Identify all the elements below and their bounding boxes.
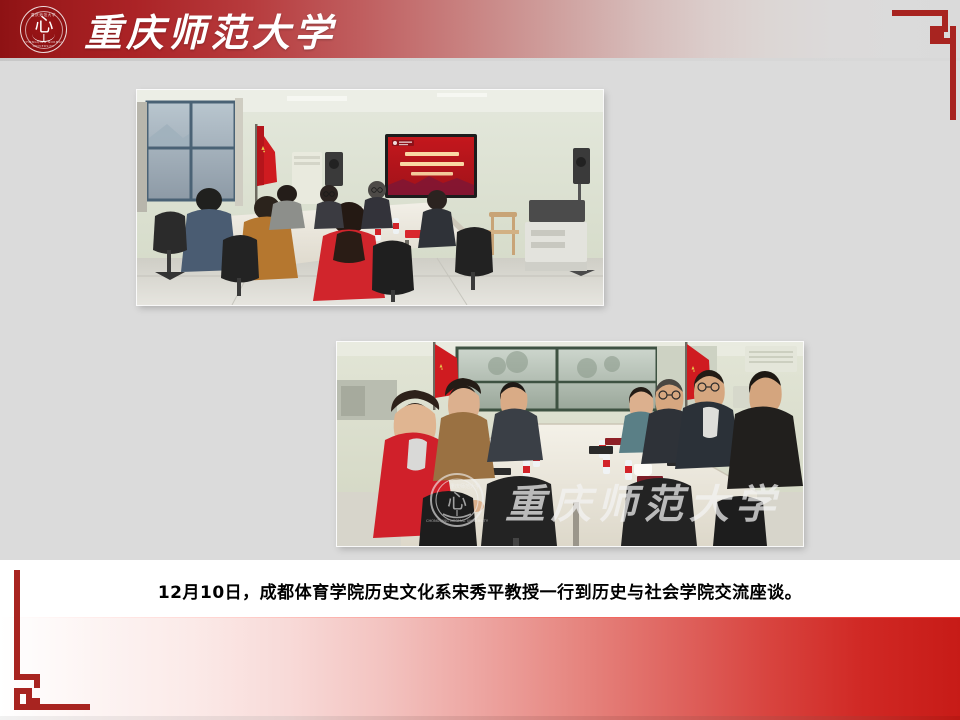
svg-text:重庆师范大学: 重庆师范大学	[450, 483, 480, 490]
bottom-edge-line	[0, 716, 960, 720]
university-name-title: 重庆师范大学	[84, 1, 336, 57]
header-underline	[0, 58, 960, 61]
slide-caption: 12月10日，成都体育学院历史文化系宋秀平教授一行到历史与社会学院交流座谈。	[0, 578, 960, 603]
seal-center-glyph: 心	[21, 16, 66, 35]
slide-root: 重庆师范大学 心 CHONGQING NORMAL UNIVERSITY 重庆师…	[0, 0, 960, 720]
photo-watermark-text: 重庆师范大学	[505, 481, 781, 528]
bottom-red-band	[0, 618, 960, 720]
corner-bracket-top-right-icon	[870, 0, 960, 120]
seal-arc-bottom-text: CHONGQING NORMAL UNIVERSITY	[21, 40, 66, 48]
svg-text:心: 心	[447, 489, 467, 513]
svg-text:CHONGQING NORMAL UNIVERSITY: CHONGQING NORMAL UNIVERSITY	[426, 519, 489, 523]
meeting-room-photo-discussion: 心 重庆师范大学 CHONGQING NORMAL UNIVERSITY 重庆师…	[337, 342, 803, 546]
corner-bracket-bottom-left-icon	[0, 570, 110, 720]
meeting-room-photo-presentation	[137, 90, 603, 305]
university-seal-icon: 重庆师范大学 心 CHONGQING NORMAL UNIVERSITY	[20, 6, 67, 53]
